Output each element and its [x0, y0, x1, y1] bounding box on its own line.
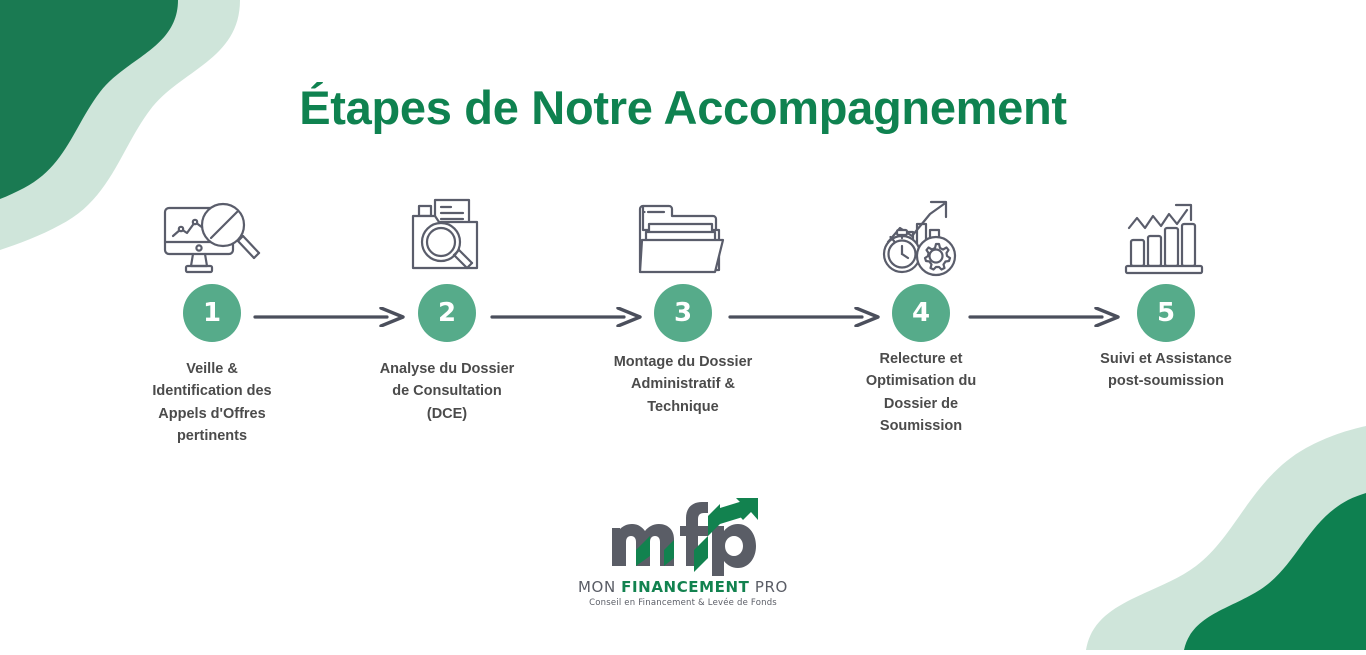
- step-3: 3 Montage du Dossier Administratif & Tec…: [588, 190, 778, 418]
- step-5-badge-row: 5: [1071, 278, 1261, 348]
- step-4-icon-wrap: [826, 190, 1016, 278]
- documents-magnifier-icon: [405, 198, 489, 278]
- step-5-caption: Suivi et Assistance post-soumission: [1071, 348, 1261, 393]
- step-3-number: 3: [654, 284, 712, 342]
- logo-tagline: Conseil en Financement & Levée de Fonds: [589, 598, 777, 608]
- step-1-caption: Veille & Identification des Appels d'Off…: [117, 358, 307, 448]
- step-1-number: 1: [183, 284, 241, 342]
- logo-word-financement: FINANCEMENT: [621, 578, 749, 596]
- step-2-icon-wrap: [352, 190, 542, 278]
- step-4-caption: Relecture et Optimisation du Dossier de …: [826, 348, 1016, 438]
- logo-word-pro: PRO: [750, 578, 788, 596]
- step-1-badge-row: 1: [117, 278, 307, 348]
- open-folder-icon: [635, 200, 731, 278]
- mfp-logo-mark: [608, 498, 758, 576]
- logo-letter-p: [712, 524, 756, 576]
- bar-chart-growth-icon: [1123, 200, 1209, 278]
- step-3-icon-wrap: [588, 190, 778, 278]
- step-5-number: 5: [1137, 284, 1195, 342]
- steps-row: 1 Veille & Identification des Appels d'O…: [0, 190, 1366, 490]
- stopwatch-gear-growth-icon: [878, 198, 964, 278]
- page-title: Étapes de Notre Accompagnement: [0, 82, 1366, 134]
- step-4-number: 4: [892, 284, 950, 342]
- step-5-icon-wrap: [1071, 190, 1261, 278]
- step-5: 5 Suivi et Assistance post-soumission: [1071, 190, 1261, 393]
- step-2-caption: Analyse du Dossier de Consultation (DCE): [352, 358, 542, 425]
- logo-word-mon: MON: [578, 578, 621, 596]
- step-1: 1 Veille & Identification des Appels d'O…: [117, 190, 307, 448]
- logo-wordmark: MON FINANCEMENT PRO: [578, 578, 788, 596]
- step-4: 4 Relecture et Optimisation du Dossier d…: [826, 190, 1016, 438]
- step-3-caption: Montage du Dossier Administratif & Techn…: [588, 351, 778, 418]
- step-2: 2 Analyse du Dossier de Consultation (DC…: [352, 190, 542, 425]
- step-3-badge-row: 3: [588, 278, 778, 348]
- company-logo: MON FINANCEMENT PRO Conseil en Financeme…: [0, 498, 1366, 608]
- monitor-chart-magnifier-icon: [161, 198, 263, 278]
- step-2-badge-row: 2: [352, 278, 542, 348]
- step-1-icon-wrap: [117, 190, 307, 278]
- step-2-number: 2: [418, 284, 476, 342]
- step-4-badge-row: 4: [826, 278, 1016, 348]
